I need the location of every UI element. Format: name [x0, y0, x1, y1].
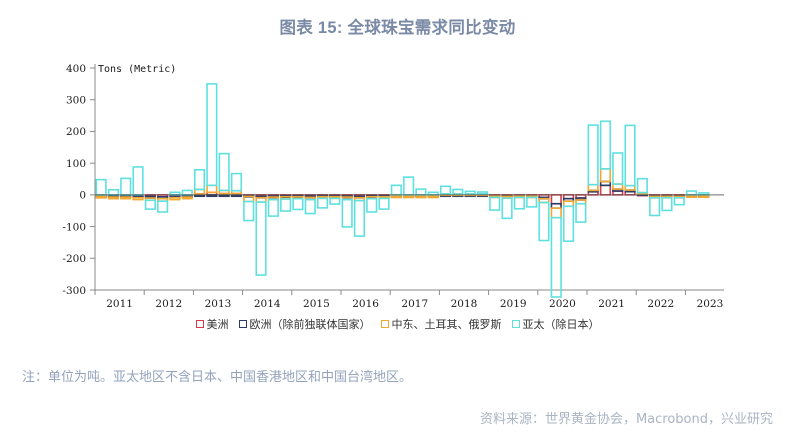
x-tick-label: 2017 [401, 298, 428, 310]
legend-swatch-icon [381, 320, 389, 328]
bar-segment [121, 197, 131, 199]
bar-segment [428, 196, 438, 197]
bar-group [121, 178, 131, 198]
bar-segment [330, 198, 340, 204]
bar-segment [121, 178, 131, 194]
x-tick-label: 2012 [155, 298, 182, 310]
bar-segment [699, 196, 709, 197]
bar-segment [392, 196, 402, 197]
bar-segment [478, 192, 488, 194]
bar-segment [515, 197, 525, 208]
legend-label: 中东、土耳其、俄罗斯 [392, 318, 502, 331]
legend-label: 美洲 [207, 318, 229, 331]
bar-segment [564, 206, 574, 241]
bar-segment [318, 198, 328, 208]
bar-segment [256, 202, 266, 275]
bar-group [674, 195, 684, 205]
chart-legend: 美洲欧洲（除前独联体国家）中东、土耳其、俄罗斯亚太（除日本） [0, 316, 795, 332]
bar-segment [674, 198, 684, 205]
bar-segment [293, 199, 303, 210]
bar-segment [96, 180, 106, 195]
bar-segment [182, 197, 192, 199]
y-tick-label: -300 [62, 285, 86, 297]
bar-segment [182, 190, 192, 194]
bar-segment [601, 169, 611, 182]
chart-source: 资料来源：世界黄金协会，Macrobond，兴业研究 [480, 408, 773, 427]
bar-segment [195, 170, 205, 190]
bar-group [576, 195, 586, 222]
chart-note: 注：单位为吨。亚太地区不含日本、中国香港地区和中国台湾地区。 [22, 366, 412, 385]
chart-svg: 4003002001000-100-200-300Tons (Metric)20… [0, 46, 795, 316]
bar-segment [379, 198, 389, 209]
x-tick-label: 2021 [598, 298, 625, 310]
bar-group [650, 195, 660, 216]
x-tick-label: 2023 [697, 298, 724, 310]
bar-group [244, 195, 254, 221]
bar-segment [650, 198, 660, 216]
x-tick-label: 2019 [500, 298, 527, 310]
bar-segment [551, 195, 561, 204]
bar-group [551, 195, 561, 297]
legend-label: 亚太（除日本） [523, 318, 600, 331]
bar-group [687, 191, 697, 197]
bar-segment [613, 153, 623, 184]
bar-segment [576, 204, 586, 222]
bar-group [269, 195, 279, 216]
bar-group [379, 195, 389, 209]
x-tick-label: 2011 [106, 298, 133, 310]
bar-segment [207, 84, 217, 185]
bar-segment [96, 196, 106, 197]
bar-segment [588, 125, 598, 185]
bar-segment [244, 202, 254, 221]
bar-group [305, 195, 315, 214]
bar-segment [453, 189, 463, 193]
bar-segment [502, 198, 512, 218]
bar-group [293, 195, 303, 210]
bar-segment [133, 198, 143, 200]
bar-group [490, 195, 500, 210]
bar-segment [638, 179, 648, 193]
bar-segment [416, 196, 426, 197]
y-tick-label: -100 [62, 221, 86, 233]
bar-segment [588, 185, 598, 191]
bar-segment [601, 121, 611, 169]
bar-group [146, 195, 156, 209]
y-tick-label: 300 [66, 95, 86, 107]
bar-segment [465, 191, 475, 194]
legend-label: 欧洲（除前独联体国家） [250, 318, 371, 331]
bar-group [527, 195, 537, 207]
x-tick-label: 2018 [451, 298, 478, 310]
bar-group [355, 195, 365, 236]
bar-group [539, 195, 549, 241]
bar-group [195, 170, 205, 196]
bar-group [219, 154, 229, 197]
bar-group [367, 195, 377, 212]
bar-segment [109, 190, 119, 195]
bar-segment [355, 201, 365, 237]
bar-group [601, 121, 611, 195]
bar-group [330, 195, 340, 204]
bar-segment [441, 186, 451, 194]
bar-group [170, 192, 180, 199]
bar-group [342, 195, 352, 227]
bar-group [158, 195, 168, 212]
bar-segment [269, 200, 279, 216]
bar-segment [551, 218, 561, 297]
y-tick-label: -200 [62, 253, 86, 265]
bar-group [625, 125, 635, 194]
x-tick-label: 2022 [647, 298, 674, 310]
bar-segment [551, 208, 561, 218]
bar-segment [527, 197, 537, 207]
bar-segment [687, 191, 697, 195]
legend-item-1[interactable]: 欧洲（除前独联体国家） [239, 316, 371, 332]
x-tick-label: 2015 [303, 298, 330, 310]
bar-group [232, 174, 242, 197]
x-tick-label: 2013 [205, 298, 232, 310]
legend-swatch-icon [239, 320, 247, 328]
bar-segment [404, 177, 414, 195]
y-axis-title: Tons (Metric) [98, 64, 176, 75]
bar-segment [625, 125, 635, 185]
bar-group [465, 191, 475, 196]
bar-segment [219, 154, 229, 191]
chart-plot-area: 4003002001000-100-200-300Tons (Metric)20… [0, 46, 795, 316]
bar-segment [687, 196, 697, 197]
bar-group [588, 125, 598, 195]
bar-segment [601, 185, 611, 195]
bar-segment [367, 199, 377, 212]
bar-segment [146, 200, 156, 209]
bar-segment [416, 189, 426, 195]
x-tick-label: 2020 [549, 298, 576, 310]
y-tick-label: 400 [66, 63, 86, 75]
bar-segment [490, 197, 500, 210]
page-title: 图表 15: 全球珠宝需求同比变动 [0, 14, 795, 38]
bar-group [281, 195, 291, 211]
bar-group [109, 190, 119, 199]
bar-group [478, 192, 488, 196]
bar-group [564, 195, 574, 241]
bar-segment [392, 185, 402, 195]
bar-segment [404, 196, 414, 197]
bar-group [416, 189, 426, 197]
y-tick-label: 0 [79, 190, 86, 202]
legend-item-3[interactable]: 亚太（除日本） [512, 316, 600, 332]
bar-group [256, 195, 266, 275]
bar-group [207, 84, 217, 196]
legend-swatch-icon [196, 320, 204, 328]
legend-item-0[interactable]: 美洲 [196, 316, 229, 332]
bar-group [638, 179, 648, 196]
bar-segment [342, 200, 352, 227]
bar-segment [158, 201, 168, 212]
x-tick-label: 2016 [352, 298, 379, 310]
bar-group [318, 195, 328, 208]
bar-segment [133, 167, 143, 195]
bar-segment [109, 197, 119, 199]
bar-segment [170, 198, 180, 200]
bar-segment [539, 202, 549, 240]
bar-group [613, 153, 623, 195]
bar-group [502, 195, 512, 218]
bar-group [662, 195, 672, 211]
bar-segment [232, 174, 242, 191]
bar-group [515, 195, 525, 209]
legend-item-2[interactable]: 中东、土耳其、俄罗斯 [381, 316, 502, 332]
y-tick-label: 100 [66, 158, 86, 170]
y-tick-label: 200 [66, 126, 86, 138]
bar-segment [207, 185, 217, 192]
bar-segment [305, 200, 315, 214]
x-tick-label: 2014 [254, 298, 281, 310]
bar-segment [281, 199, 291, 211]
legend-swatch-icon [512, 320, 520, 328]
bar-segment [662, 198, 672, 211]
bar-group [392, 185, 402, 197]
